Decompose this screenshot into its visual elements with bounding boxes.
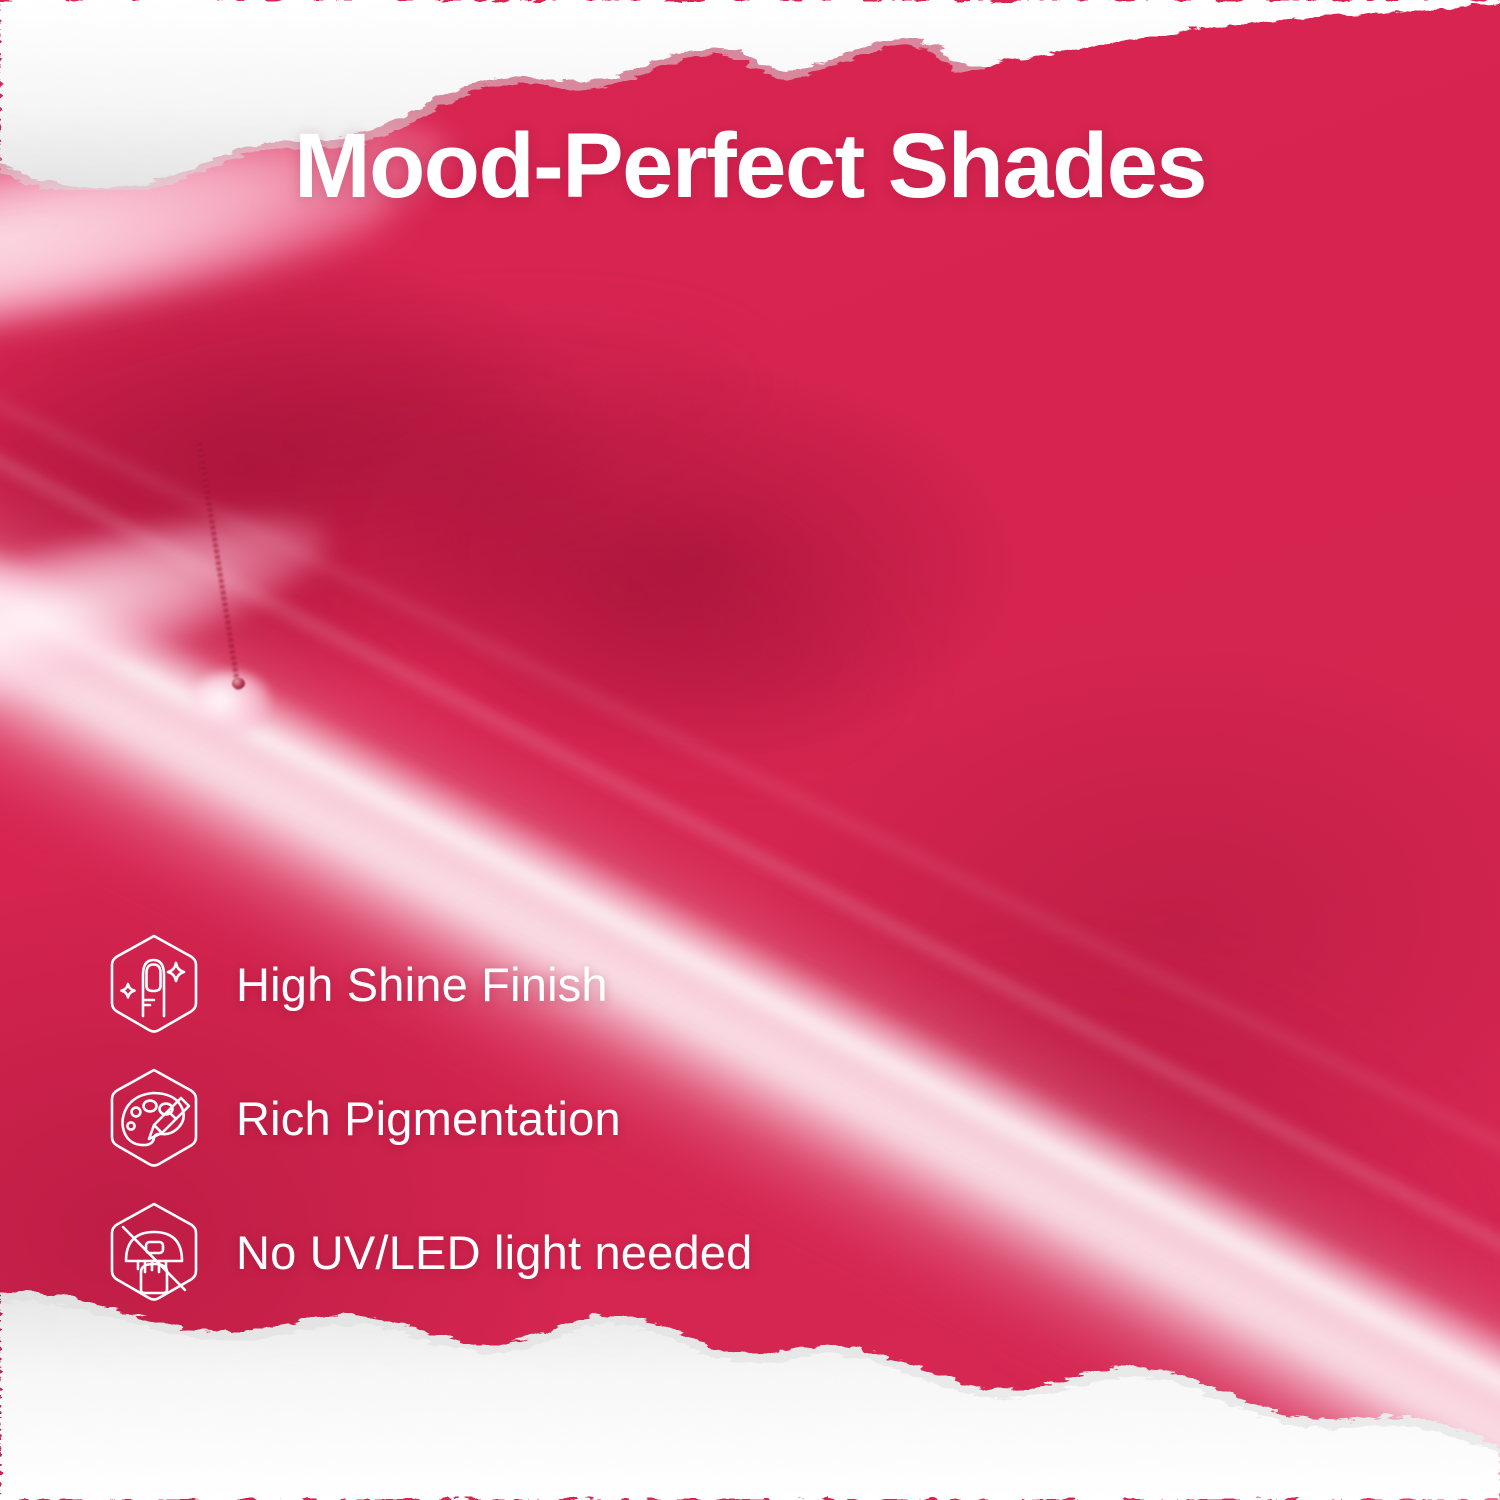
feature-label: High Shine Finish: [236, 957, 608, 1012]
feature-item-rich-pigmentation: Rich Pigmentation: [98, 1062, 753, 1174]
feature-item-no-uv-led: No UV/LED light needed: [98, 1196, 753, 1308]
page-title: Mood-Perfect Shades: [0, 118, 1500, 215]
feature-item-high-shine: High Shine Finish: [98, 928, 753, 1040]
product-banner: Mood-Perfect Shades: [0, 0, 1500, 1500]
feature-label: No UV/LED light needed: [236, 1225, 753, 1280]
no-uv-lamp-icon: [98, 1196, 210, 1308]
polish-seam-bead: [232, 678, 245, 689]
paint-palette-icon: [98, 1062, 210, 1174]
feature-list: High Shine Finish: [98, 928, 753, 1308]
nail-shine-icon: [98, 928, 210, 1040]
feature-label: Rich Pigmentation: [236, 1091, 621, 1146]
polish-pinch-node: [192, 672, 270, 736]
